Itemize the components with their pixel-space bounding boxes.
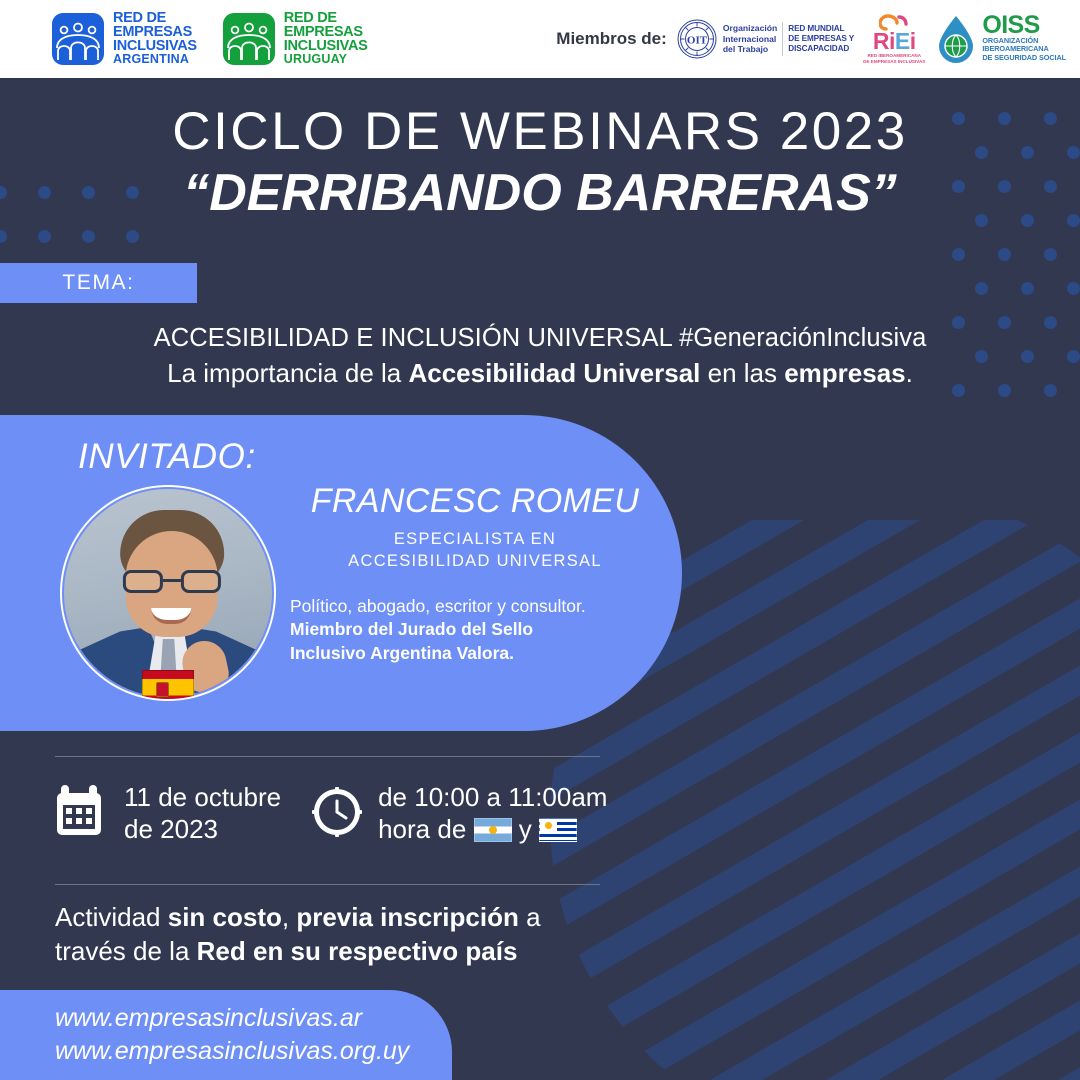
registration-note: Actividad sin costo, previa inscripción … [55, 900, 615, 969]
oiss-droplet-globe-icon [934, 14, 978, 64]
tema-badge: TEMA: [0, 263, 197, 303]
event-date-text: 11 de octubre de 2023 [124, 782, 281, 845]
riei-sub2: DE EMPRESAS INCLUSIVAS [863, 59, 925, 65]
divider-bottom [55, 884, 600, 885]
event-date: 11 de octubre de 2023 [55, 782, 281, 845]
clock-icon [309, 783, 365, 844]
spain-flag-icon [142, 670, 194, 701]
oit-net2: DE EMPRESAS Y [788, 34, 854, 44]
oit-net3: DISCAPACIDAD [788, 44, 854, 54]
logo-country-ar: ARGENTINA [113, 54, 197, 66]
tema-line2: La importancia de la Accesibilidad Unive… [0, 355, 1080, 393]
speaker-name: FRANCESC ROMEU [290, 483, 660, 520]
speaker-panel: INVITADO: FRANCESC ROMEU ESPECIALISTA EN… [0, 415, 682, 731]
header-bar: RED DE EMPRESAS INCLUSIVAS ARGENTINA RED… [0, 0, 1080, 78]
speaker-info: FRANCESC ROMEU ESPECIALISTA EN ACCESIBIL… [290, 483, 660, 665]
network-people-icon-uruguay [223, 13, 275, 65]
oit-divider [782, 22, 783, 56]
event-time: de 10:00 a 11:00am hora de y [309, 782, 607, 845]
svg-text:OIT: OIT [687, 35, 708, 47]
title-block: CICLO DE WEBINARS 2023 “DERRIBANDO BARRE… [0, 104, 1080, 222]
logo-country-uy: URUGUAY [284, 54, 368, 66]
tema-line1: ACCESIBILIDAD E INCLUSIÓN UNIVERSAL #Gen… [0, 322, 1080, 355]
speaker-avatar [60, 485, 276, 701]
logo-riei[interactable]: RiEi RED IBEROAMERICANA DE EMPRESAS INCL… [863, 14, 925, 65]
event-time-text: de 10:00 a 11:00am hora de y [378, 782, 607, 845]
oit-wreath-icon: OIT [676, 18, 718, 60]
calendar-icon [55, 783, 111, 844]
website-bar: www.empresasinclusivas.ar www.empresasin… [0, 990, 452, 1080]
members-group: Miembros de: OIT Organización Internacio… [556, 0, 1066, 78]
speaker-photo [64, 489, 272, 697]
logo-red-empresas-inclusivas-argentina[interactable]: RED DE EMPRESAS INCLUSIVAS ARGENTINA [52, 12, 197, 65]
oiss-line3: DE SEGURIDAD SOCIAL [982, 54, 1066, 63]
members-label: Miembros de: [556, 29, 667, 49]
page-title: CICLO DE WEBINARS 2023 [0, 104, 1080, 160]
invitado-label: INVITADO: [78, 437, 256, 477]
logo-oit[interactable]: OIT Organización Internacional del Traba… [676, 18, 854, 60]
oiss-acronym: OISS [982, 15, 1066, 36]
oit-line2: Internacional [723, 34, 777, 44]
oit-line1: Organización [723, 23, 777, 33]
logo-red-empresas-inclusivas-uruguay[interactable]: RED DE EMPRESAS INCLUSIVAS URUGUAY [223, 12, 368, 65]
page-subtitle: “DERRIBANDO BARRERAS” [0, 164, 1080, 222]
riei-wordmark: RiEi [863, 31, 925, 52]
divider-top [55, 756, 600, 757]
oit-net1: RED MUNDIAL [788, 24, 854, 34]
tema-content: ACCESIBILIDAD E INCLUSIÓN UNIVERSAL #Gen… [0, 322, 1080, 393]
speaker-bio: Político, abogado, escritor y consultor.… [290, 595, 660, 665]
logo-oiss[interactable]: OISS ORGANIZACIÓN IBEROAMERICANA DE SEGU… [934, 14, 1066, 64]
website-url-uy[interactable]: www.empresasinclusivas.org.uy [55, 1035, 452, 1068]
tema-badge-label: TEMA: [62, 271, 134, 295]
uruguay-flag-icon [539, 818, 577, 842]
oit-line3: del Trabajo [723, 44, 777, 54]
network-people-icon-argentina [52, 13, 104, 65]
event-details-row: 11 de octubre de 2023 de 10:00 a 11:00 [55, 782, 607, 845]
argentina-flag-icon [474, 818, 512, 842]
speaker-role: ESPECIALISTA EN ACCESIBILIDAD UNIVERSAL [290, 529, 660, 573]
website-url-ar[interactable]: www.empresasinclusivas.ar [55, 1002, 452, 1035]
